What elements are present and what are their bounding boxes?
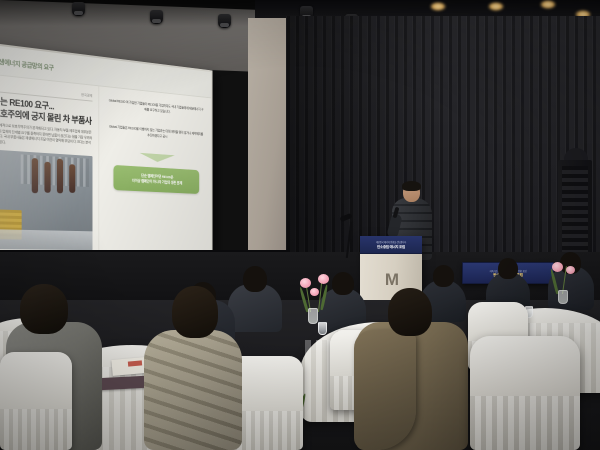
slide-article-clipping: 특집 한국경제 지는 RE100 요구... 보호주의에 궁지 몰린 차 부품사… — [0, 74, 99, 256]
carnation-bloom — [310, 288, 319, 296]
attendee-head — [332, 272, 354, 295]
carnation-bloom — [318, 274, 329, 284]
banquet-chair — [0, 352, 72, 450]
chair-skirt-pleats — [470, 396, 580, 450]
slide-paragraph-2: Global 기업들은 RE100을 이행하지 않는 기업과는 미래 계약을 맺… — [108, 124, 205, 143]
attendee-head — [498, 258, 518, 279]
stage-spotlight-icon — [150, 10, 163, 24]
projection-screen: 재생에너지 공급망의 요구 특집 한국경제 지는 RE100 요구... 보호주… — [0, 42, 213, 258]
photo-robot-arm — [69, 164, 75, 193]
podium-banner-title: 탄소중립 에너지 포럼 — [377, 244, 405, 249]
photo-robot-arm — [44, 162, 50, 193]
article-photo — [0, 150, 92, 250]
warm-ceiling-light-icon — [430, 2, 446, 11]
slide-conclusion-box: 단순 캠페인이던 RE100은 더이상 캠페인이 아니라 기업의 생존 문제 — [114, 165, 199, 194]
down-arrow-icon — [139, 153, 175, 164]
stage-spotlight-icon — [218, 14, 231, 28]
article-headline: 지는 RE100 요구... 보호주의에 궁지 몰린 차 부품사 — [0, 96, 92, 127]
attendee-head — [243, 266, 267, 292]
puffer-quilting — [144, 330, 242, 450]
carnation-bloom — [566, 266, 575, 274]
podium-logo-icon: M — [378, 270, 404, 290]
flower-vase — [558, 290, 568, 304]
flower-vase — [308, 308, 318, 324]
carnation-bloom — [300, 278, 311, 288]
water-glass — [318, 322, 327, 335]
podium-banner: 대한민국 에너지 전환을 선도합니다 탄소중립 에너지 포럼 — [360, 236, 422, 254]
photo-factory-floor — [0, 229, 92, 250]
photo-robot-arm — [57, 159, 63, 194]
warm-ceiling-light-icon — [488, 2, 504, 11]
slide-band-text: 재생에너지 공급망의 요구 — [0, 55, 54, 72]
conference-hall-photo: 재생에너지 공급망의 요구 특집 한국경제 지는 RE100 요구... 보호주… — [0, 0, 600, 450]
slide-message-column: Global RE100 여 가입한 기업들이 RE100을 기업까지도 국내 … — [99, 86, 211, 256]
warm-ceiling-light-icon — [540, 0, 556, 9]
attendee-head-foreground — [388, 288, 432, 336]
slide-paragraph-1: Global RE100 여 가입한 기업들이 RE100을 기업까지도 국내 … — [108, 98, 205, 118]
attendee-head-foreground — [20, 284, 68, 334]
newspaper-kicker-right: 한국경제 — [81, 92, 92, 98]
article-deck: 전 세계적으로 보호무역주의가 본격화되고 있다. 자동차 부품 제조업체 대부… — [0, 123, 92, 152]
presenter-hair — [402, 181, 421, 191]
carnation-bloom — [552, 262, 563, 272]
attendee-head — [433, 265, 454, 287]
photo-robot-arm — [32, 158, 38, 193]
stage-spotlight-icon — [72, 2, 85, 16]
attendee-head-foreground — [172, 286, 218, 338]
coat-draped — [354, 330, 416, 450]
stage-side-wall — [248, 18, 288, 268]
